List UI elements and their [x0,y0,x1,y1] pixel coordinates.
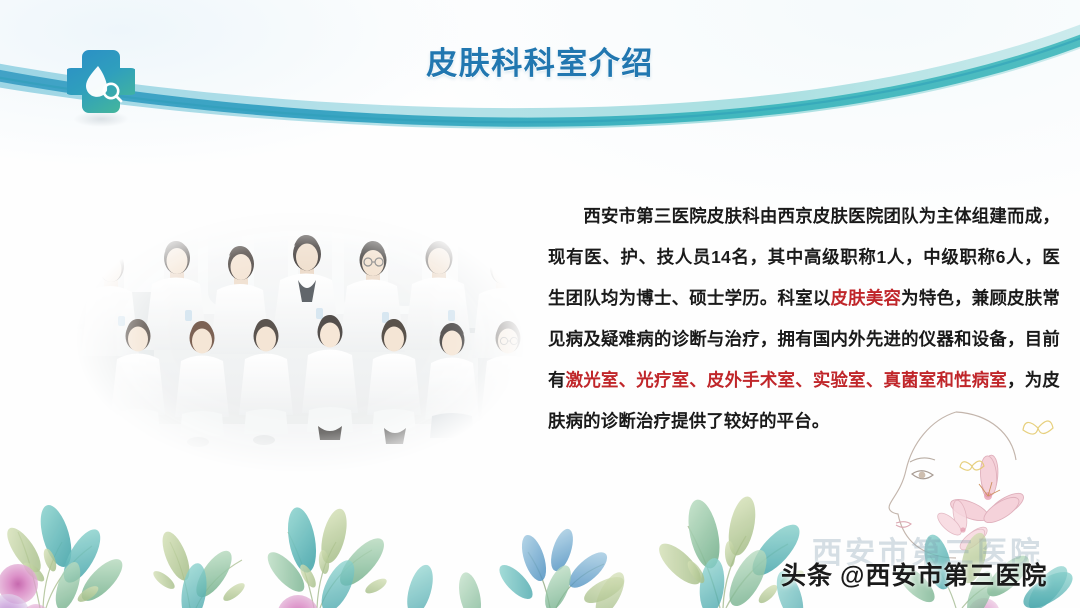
watermark-account: 头条@西安市第三医院 [781,556,1047,592]
watermark-platform-label: 头条 [781,562,833,590]
paragraph-run-3: 激光室、光疗室、皮外手术室、实验室、真菌室和性病室 [566,370,1007,390]
team-photo-illustration [58,196,544,484]
department-description: 西安市第三医院皮肤科由西京皮肤医院团队为主体组建而成，现有医、护、技人员14名，… [548,196,1060,442]
paragraph-run-1: 皮肤美容 [831,288,902,308]
team-photo [58,196,544,484]
team-photo-oval-mask [58,196,544,484]
logo-shadow [73,111,129,127]
page-title: 皮肤科科室介绍 [0,38,1080,83]
watermark-handle: @西安市第三医院 [840,562,1047,590]
slide-canvas: 皮肤科科室介绍 [0,0,1080,608]
